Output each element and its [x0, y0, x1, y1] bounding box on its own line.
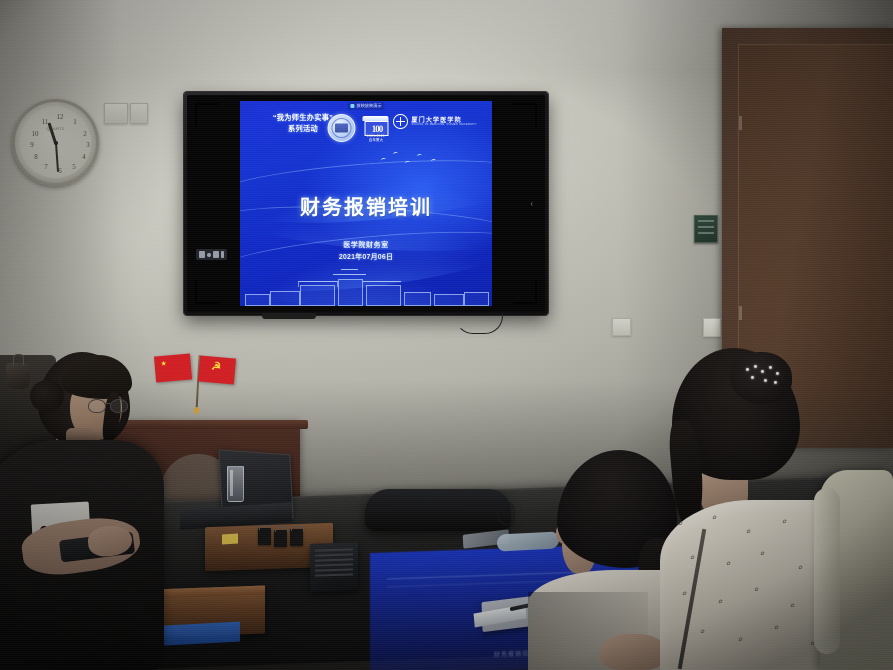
- flag-party-glyph: ☭: [211, 362, 222, 374]
- display-bezel: 放映放映演示 “我为师生办实事” 系列活动 100 1921-2021 百年厦大: [187, 95, 545, 312]
- anniversary-logo-icon: 100 1921-2021 百年厦大: [363, 115, 389, 141]
- hair-clip-icon: [744, 364, 784, 390]
- desk-flags: ★ ☭: [155, 355, 241, 411]
- clock-numeral: 4: [79, 152, 89, 162]
- hair-bun: [30, 380, 64, 412]
- projection-status-label: 放映放映演示: [356, 103, 381, 109]
- calibration-marker-bottom-right: [513, 280, 537, 304]
- teapot-icon: [6, 363, 30, 389]
- binder-clip: [258, 528, 271, 545]
- door-hinge-icon: [739, 116, 742, 130]
- campus-skyline-graphic: [240, 272, 492, 306]
- display-mini-toolbar[interactable]: [196, 249, 227, 260]
- photo-scene: 12 1 2 3 4 5 6 7 8 9 10 11 QUARTZ: [0, 0, 893, 670]
- university-logo: 厦门大学医学院 SCHOOL OF MEDICINE, XIAMEN UNIVE…: [393, 114, 477, 129]
- clock-numeral: 5: [69, 162, 79, 172]
- presentation-slide[interactable]: 放映放映演示 “我为师生办实事” 系列活动 100 1921-2021 百年厦大: [240, 101, 492, 306]
- armchair[interactable]: [820, 470, 893, 670]
- clock-numeral: 3: [83, 140, 93, 150]
- wall-socket-door: [703, 318, 721, 337]
- clock-numeral: 7: [41, 162, 51, 172]
- national-flag-icon: ★: [154, 353, 192, 382]
- face-mask: [497, 531, 559, 551]
- clock-numeral: 9: [27, 140, 37, 150]
- slide-subtitle-block: 医学院财务室 2021年07月06日: [240, 240, 492, 262]
- university-emblem-icon: [393, 114, 408, 129]
- slide-title: 财务报销培训: [240, 191, 492, 220]
- anniversary-caption: 百年厦大: [363, 138, 389, 143]
- clock-numeral: 10: [30, 129, 40, 139]
- clock-face: 12 1 2 3 4 5 6 7 8 9 10 11 QUARTZ: [20, 107, 91, 178]
- wall-socket-left: [104, 103, 128, 124]
- chevron-left-icon[interactable]: ‹: [530, 199, 533, 208]
- clock-numeral: 2: [80, 129, 90, 139]
- hands: [600, 634, 664, 670]
- clock-center-pin: [54, 141, 58, 145]
- door-hinge-icon: [739, 306, 742, 320]
- birds-decoration: [379, 150, 449, 172]
- university-seal-icon: [328, 114, 356, 142]
- wall-switch-left: [130, 103, 148, 124]
- slide-logo-group: 100 1921-2021 百年厦大: [328, 114, 389, 142]
- eyeglasses-icon: [88, 399, 128, 412]
- panel-icon[interactable]: [199, 251, 205, 258]
- projection-status-badge: 放映放映演示: [347, 102, 384, 110]
- clock-numeral: 8: [31, 152, 41, 162]
- clock-numeral: 1: [70, 117, 80, 127]
- binder-clip: [274, 530, 287, 547]
- slide-date: 2021年07月06日: [240, 252, 492, 263]
- calibration-marker-bottom-left: [195, 280, 219, 304]
- black-equipment-box: [310, 542, 358, 592]
- exit-sign: [694, 215, 718, 243]
- sticky-note: [222, 533, 238, 544]
- record-dot-icon[interactable]: [207, 253, 211, 257]
- wall-clock: 12 1 2 3 4 5 6 7 8 9 10 11 QUARTZ: [12, 99, 99, 186]
- drinking-glass: [227, 466, 244, 502]
- clock-numeral: 12: [55, 112, 65, 122]
- slide-department: 医学院财务室: [240, 240, 492, 251]
- flag-star-glyph: ★: [160, 361, 167, 369]
- binder-clip: [290, 529, 303, 546]
- wall-mounted-display[interactable]: 放映放映演示 “我为师生办实事” 系列活动 100 1921-2021 百年厦大: [184, 92, 548, 315]
- backpack: [365, 489, 511, 531]
- wall-socket-right: [612, 318, 631, 336]
- cast-icon: [350, 104, 354, 108]
- university-name-en: SCHOOL OF MEDICINE, XIAMEN UNIVERSITY: [411, 124, 477, 127]
- bar-icon[interactable]: [221, 251, 224, 258]
- panel-icon[interactable]: [213, 251, 219, 258]
- calibration-marker-top-left: [195, 103, 219, 127]
- party-flag-icon: ☭: [198, 355, 236, 384]
- display-stand: [262, 313, 316, 319]
- calibration-marker-top-right: [513, 103, 537, 127]
- anniversary-number: 100: [372, 124, 383, 134]
